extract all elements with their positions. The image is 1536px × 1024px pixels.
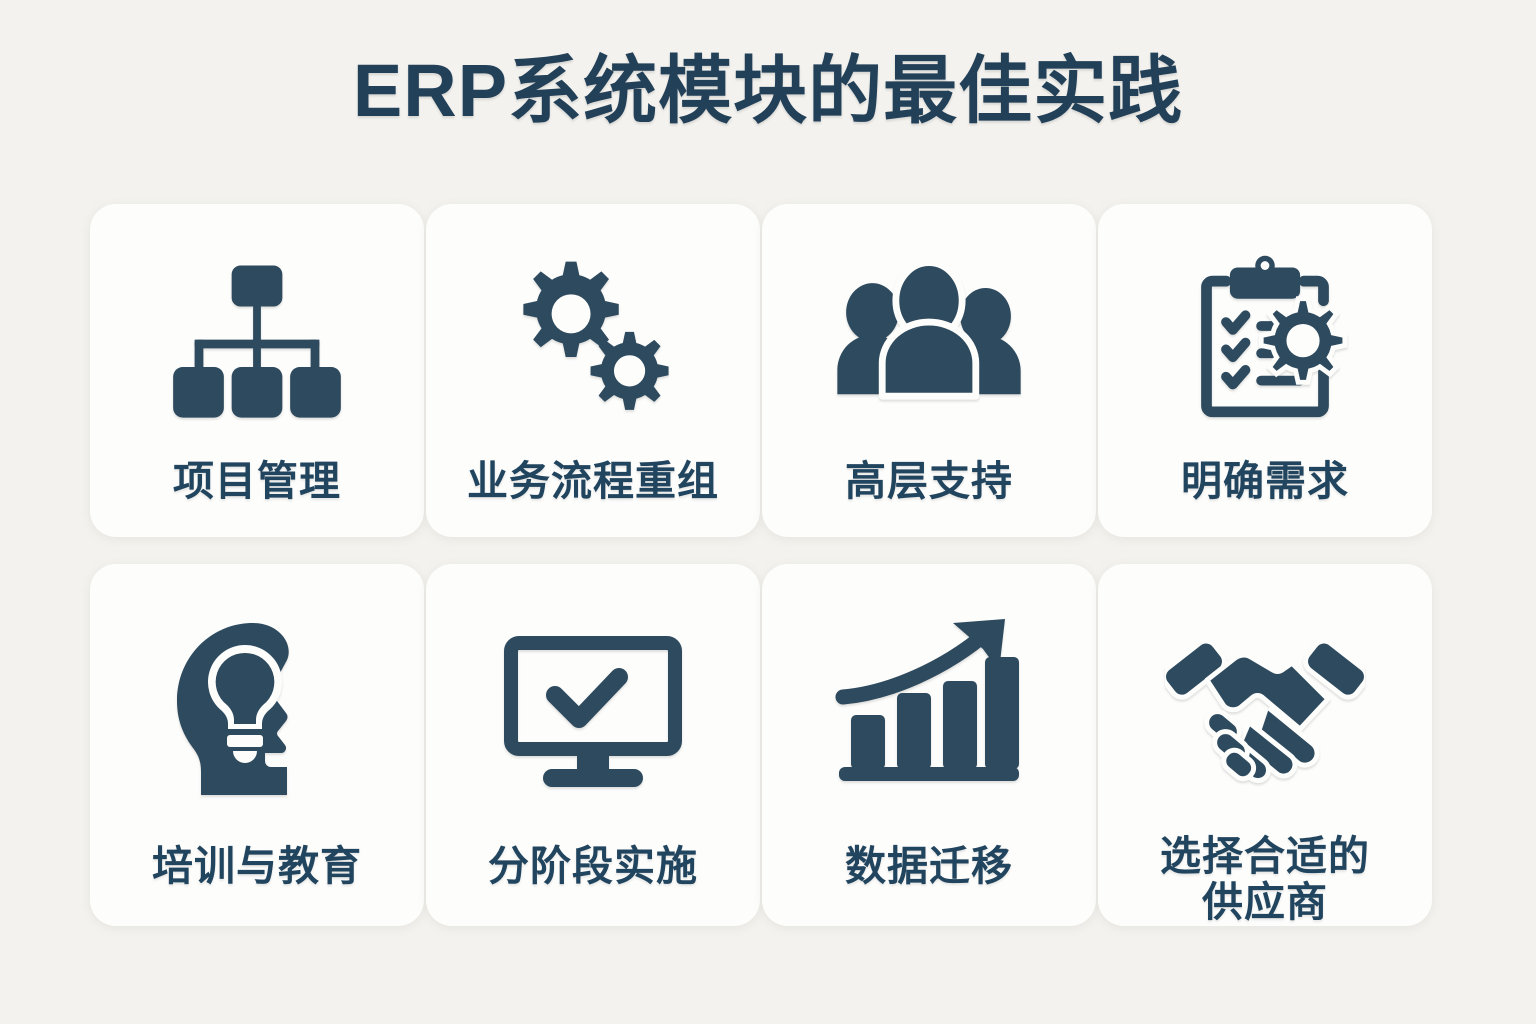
card-label: 项目管理 (173, 459, 341, 505)
card-training-education[interactable]: 培训与教育 (90, 564, 424, 926)
page-title: ERP系统模块的最佳实践 (0, 52, 1536, 130)
card-label: 明确需求 (1181, 459, 1349, 505)
card-label: 培训与教育 (152, 844, 362, 890)
bar-chart-arrow-icon (829, 612, 1029, 822)
card-label: 业务流程重组 (467, 459, 719, 505)
head-lightbulb-icon (157, 612, 357, 822)
card-label: 选择合适的 供应商 (1160, 834, 1370, 926)
clipboard-checklist-gear-icon (1165, 248, 1365, 443)
monitor-check-icon (493, 612, 693, 822)
card-phased-implementation[interactable]: 分阶段实施 (426, 564, 760, 926)
card-label: 高层支持 (845, 459, 1013, 505)
card-label: 数据迁移 (845, 844, 1013, 890)
card-data-migration[interactable]: 数据迁移 (762, 564, 1096, 926)
gears-icon (493, 248, 693, 443)
org-chart-icon (157, 248, 357, 443)
card-executive-support[interactable]: 高层支持 (762, 204, 1096, 537)
card-label: 分阶段实施 (488, 844, 698, 890)
card-choose-right-supplier[interactable]: 选择合适的 供应商 (1098, 564, 1432, 926)
card-clear-requirements[interactable]: 明确需求 (1098, 204, 1432, 537)
card-project-management[interactable]: 项目管理 (90, 204, 424, 537)
card-grid: 项目管理 业务流程重组 (90, 204, 1432, 926)
infographic-page: ERP系统模块的最佳实践 (0, 0, 1536, 1024)
people-group-icon (829, 248, 1029, 443)
card-business-process-reengineering[interactable]: 业务流程重组 (426, 204, 760, 537)
handshake-icon (1165, 612, 1365, 812)
